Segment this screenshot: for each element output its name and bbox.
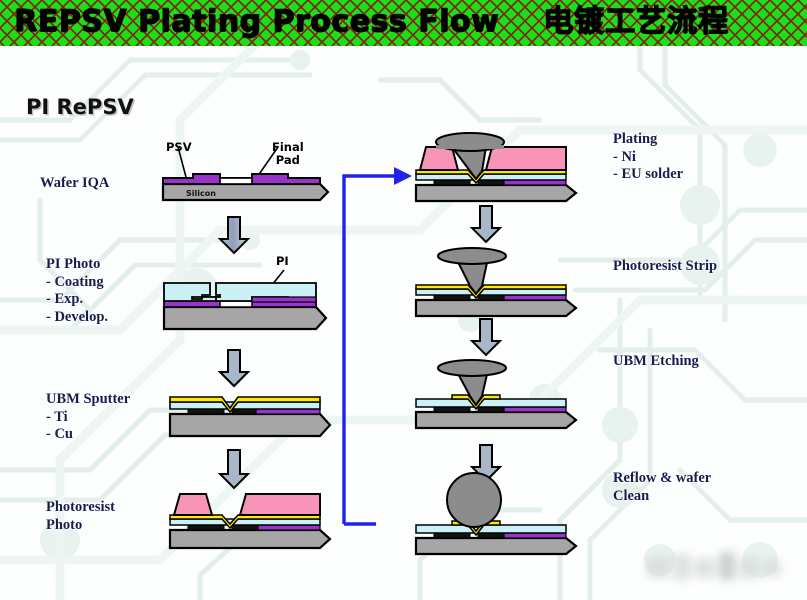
flow-connector-blue-arrow <box>340 162 418 537</box>
blurred-watermark <box>639 542 799 594</box>
diagram-ubm-etching <box>408 360 588 432</box>
step-label-pi-photo: PI Photo - Coating - Exp. - Develop. <box>46 256 108 326</box>
svg-text:Silicon: Silicon <box>186 189 216 198</box>
section-heading: PI RePSV <box>26 95 134 119</box>
callout-pi: PI <box>276 255 289 268</box>
diagram-ubm-sputter <box>160 392 345 442</box>
diagram-plating <box>408 133 588 205</box>
flow-arrow-down-5 <box>470 317 502 357</box>
diagram-pi-photo <box>152 275 342 335</box>
slide-title-bar: REPSV Plating Process Flow 电镀工艺流程 <box>0 0 807 46</box>
slide-title-latin: REPSV Plating Process Flow <box>14 4 499 39</box>
callout-psv: PSV <box>166 141 192 154</box>
diagram-reflow-clean <box>408 478 588 558</box>
flow-arrow-down-4 <box>470 204 502 244</box>
slide-canvas: REPSV Plating Process Flow 电镀工艺流程 PI ReP… <box>0 0 807 600</box>
step-label-photoresist-strip: Photoresist Strip <box>613 258 717 276</box>
diagram-wafer-iqa: Silicon <box>148 155 338 210</box>
diagram-photoresist-strip <box>408 248 588 320</box>
step-label-reflow-clean: Reflow & wafer Clean <box>613 470 711 505</box>
step-label-ubm-sputter: UBM Sputter - Ti - Cu <box>46 391 130 444</box>
step-label-wafer-iqa: Wafer IQA <box>40 175 109 193</box>
step-label-photoresist-photo: Photoresist Photo <box>46 499 115 534</box>
flow-arrow-down-1 <box>218 215 250 255</box>
slide-title-chinese: 电镀工艺流程 <box>543 4 729 39</box>
callout-final-pad: Final Pad <box>272 141 304 167</box>
flow-arrow-down-3 <box>218 448 250 490</box>
step-label-plating: Plating - Ni - EU solder <box>613 131 683 184</box>
diagram-photoresist-photo <box>160 490 350 552</box>
flow-arrow-down-2 <box>218 348 250 388</box>
step-label-ubm-etching: UBM Etching <box>613 353 699 371</box>
slide-title: REPSV Plating Process Flow 电镀工艺流程 <box>14 0 729 45</box>
